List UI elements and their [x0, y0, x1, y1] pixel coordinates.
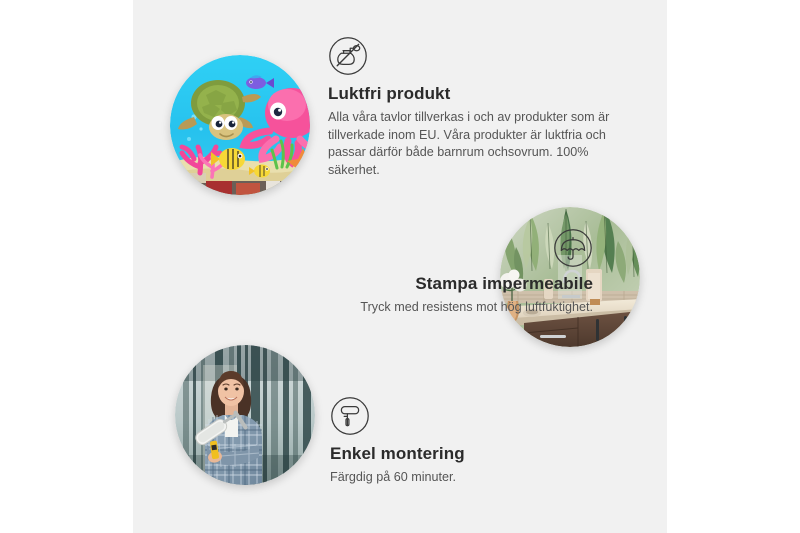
- feature-title: Stampa impermeabile: [208, 274, 593, 294]
- feature-panel: Luktfri produkt Alla våra tavlor tillver…: [133, 0, 667, 533]
- feature-body: Alla våra tavlor tillverkas i och av pro…: [328, 109, 633, 179]
- screenshot-root: Luktfri produkt Alla våra tavlor tillver…: [0, 0, 800, 533]
- feature-body: Tryck med resistens mot hög luftfuktighe…: [208, 299, 593, 317]
- feature-body: Färgdig på 60 minuter.: [330, 469, 630, 487]
- feature-title: Luktfri produkt: [328, 84, 633, 104]
- paint-roller-icon: [330, 396, 370, 436]
- no-odor-spray-bottle-icon: [328, 36, 368, 76]
- feature-block-waterproof: Stampa impermeabile Tryck med resistens …: [208, 228, 593, 317]
- woman-paint-roller-forest-photo: [175, 345, 315, 485]
- underwater-cartoon-mural-photo: [170, 55, 310, 195]
- feature-block-odorless: Luktfri produkt Alla våra tavlor tillver…: [328, 36, 633, 179]
- feature-title: Enkel montering: [330, 444, 630, 464]
- feature-block-easy-mounting: Enkel montering Färgdig på 60 minuter.: [330, 396, 630, 487]
- umbrella-icon: [553, 228, 593, 268]
